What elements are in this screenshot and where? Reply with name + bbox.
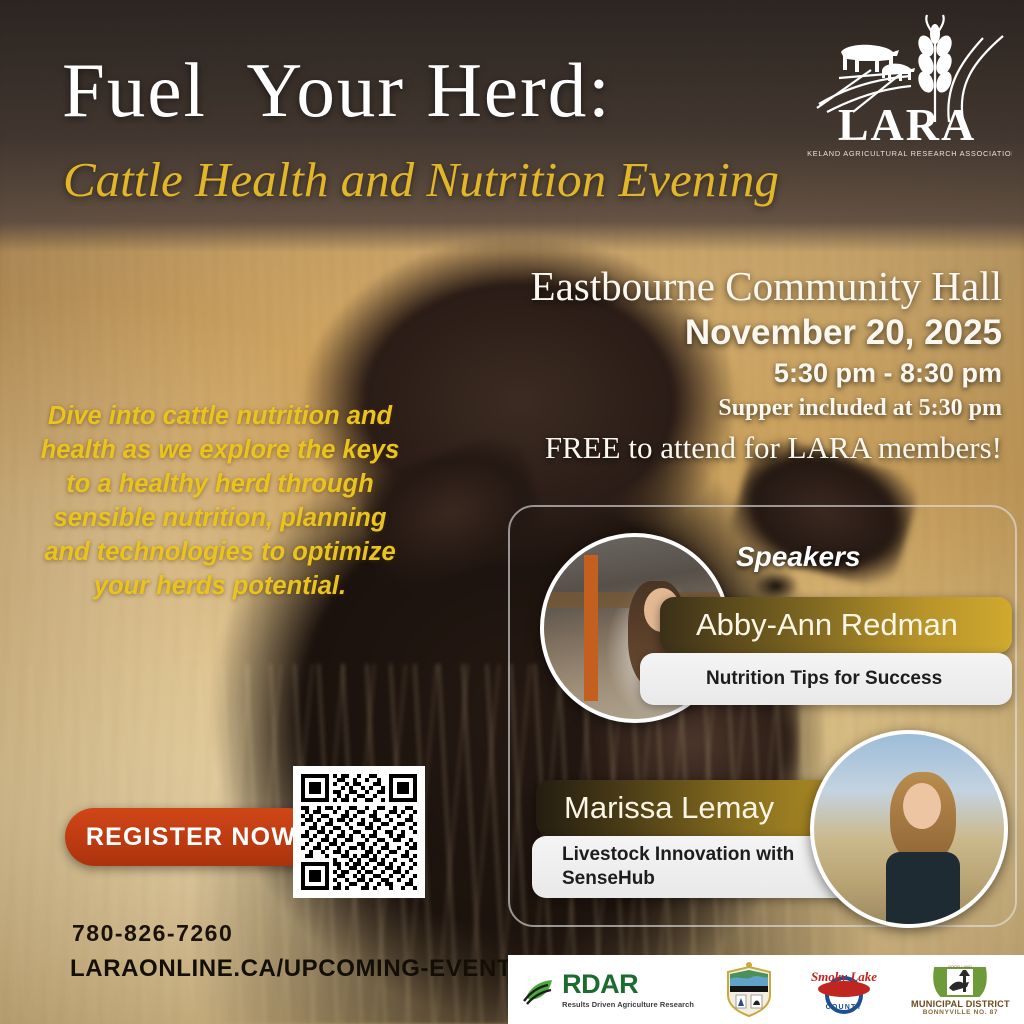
event-date: November 20, 2025 [382, 314, 1002, 353]
sponsor-county-crest [722, 962, 776, 1018]
event-time: 5:30 pm - 8:30 pm [382, 359, 1002, 389]
contact-phone[interactable]: 780-826-7260 [72, 920, 233, 947]
svg-text:GOOD LAND: GOOD LAND [948, 964, 972, 969]
event-details: Eastbourne Community Hall November 20, 2… [382, 265, 1002, 465]
lara-logo: LARA LAKELAND AGRICULTURAL RESEARCH ASSO… [807, 12, 1012, 164]
event-price-note: FREE to attend for LARA members! [382, 431, 1002, 465]
sponsor-strip: RDAR Results Driven Agriculture Research [508, 955, 1024, 1024]
event-poster: Fuel Your Herd: Cattle Health and Nutrit… [0, 0, 1024, 1024]
event-supper-note: Supper included at 5:30 pm [382, 395, 1002, 421]
sponsor-md-sub: BONNYVILLE NO. 87 [923, 1009, 998, 1016]
svg-text:COUNTY: COUNTY [825, 1004, 862, 1011]
svg-text:LAKELAND AGRICULTURAL RESEARCH: LAKELAND AGRICULTURAL RESEARCH ASSOCIATI… [807, 149, 1012, 158]
page-title: Fuel Your Herd: [62, 52, 612, 129]
smoky-lake-county-icon: Smoky Lake COUNTY [805, 965, 883, 1015]
svg-text:Smoky Lake: Smoky Lake [811, 969, 877, 984]
speaker-1-name: Abby-Ann Redman [660, 597, 1012, 653]
md-bonnyville-icon: GOOD LAND [929, 964, 991, 998]
sponsor-rdar-name: RDAR [562, 971, 694, 998]
page-subtitle: Cattle Health and Nutrition Evening [63, 155, 779, 204]
speakers-heading: Speakers [736, 541, 861, 573]
rdar-leaf-icon [522, 975, 556, 1005]
speaker-2-avatar [810, 730, 1008, 928]
svg-text:LARA: LARA [838, 99, 976, 150]
sponsor-rdar: RDAR Results Driven Agriculture Research [522, 971, 694, 1008]
county-crest-icon [722, 962, 776, 1018]
contact-website[interactable]: LARAONLINE.CA/UPCOMING-EVENTS [70, 955, 529, 983]
speaker-1-topic: Nutrition Tips for Success [640, 653, 1012, 705]
register-now-button[interactable]: REGISTER NOW [65, 808, 317, 866]
event-description: Dive into cattle nutrition and health as… [30, 400, 410, 603]
sponsor-smoky-lake-county: Smoky Lake COUNTY [805, 965, 883, 1015]
sponsor-rdar-tagline: Results Driven Agriculture Research [562, 1001, 694, 1008]
qr-code[interactable] [293, 766, 425, 898]
sponsor-md-name: MUNICIPAL DISTRICT [911, 999, 1010, 1009]
event-venue: Eastbourne Community Hall [382, 265, 1002, 308]
sponsor-md-bonnyville: GOOD LAND MUNICIPAL DISTRICT BONNYVILLE … [911, 964, 1010, 1016]
